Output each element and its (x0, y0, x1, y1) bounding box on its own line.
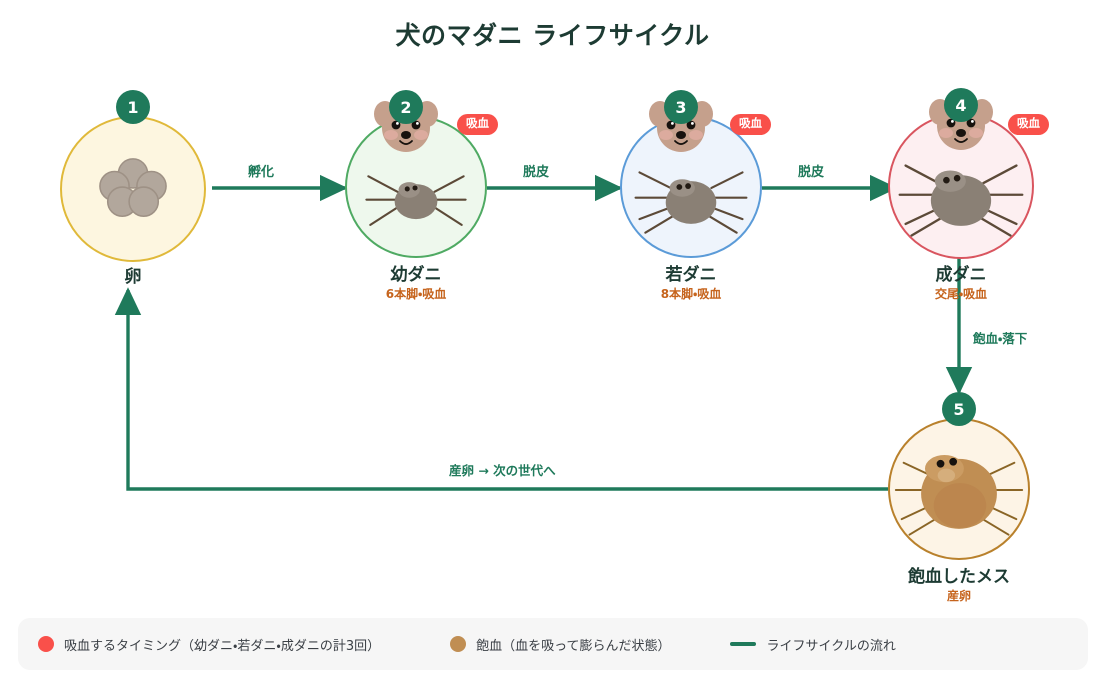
legend-line-green (730, 642, 756, 646)
edge-label-molt-1: 脱皮 (523, 161, 549, 180)
edge-label-hatching: 孵化 (248, 161, 274, 180)
stage-5-name: 飽血したメス (884, 562, 1034, 587)
edge-label-molt-2: 脱皮 (798, 161, 824, 180)
stage-4-sub: 交尾・吸血 (886, 285, 1036, 302)
stage-5-number-badge: 5 (942, 392, 976, 426)
legend-item-flow: ライフサイクルの流れ (730, 635, 895, 654)
egg-cluster-icon (62, 118, 204, 260)
diagram-canvas: 犬のマダニ ライフサイクル (0, 0, 1105, 680)
stage-1-name: 卵 (58, 262, 208, 287)
page-title: 犬のマダニ ライフサイクル (0, 16, 1105, 52)
legend-item-engorged: 飽血（血を吸って膨らんだ状態） (450, 635, 670, 654)
edge-label-oviposition: 産卵 → 次の世代へ (449, 460, 556, 479)
legend-item-feeding: 吸血するタイミング（幼ダニ・若ダニ・成ダニの計3回） (38, 635, 380, 654)
stage-4-number-badge: 4 (944, 88, 978, 122)
stage-2-name: 幼ダニ (341, 260, 491, 285)
stage-1-number-badge: 1 (116, 90, 150, 124)
stage-1-bubble (60, 116, 206, 262)
edge-label-engorge-drop: 飽血・落下 (973, 328, 1027, 347)
stage-4-feeding-badge: 吸血 (1008, 114, 1049, 135)
stage-2-feeding-badge: 吸血 (457, 114, 498, 135)
stage-3-feeding-badge: 吸血 (730, 114, 771, 135)
stage-3-number-badge: 3 (664, 90, 698, 124)
stage-4-name: 成ダニ (886, 260, 1036, 285)
legend-label-engorged: 飽血（血を吸って膨らんだ状態） (476, 635, 670, 654)
engorged-female-icon (890, 420, 1028, 558)
stage-2-number-badge: 2 (389, 90, 423, 124)
stage-5-bubble (888, 418, 1030, 560)
legend-label-flow: ライフサイクルの流れ (766, 635, 895, 654)
legend-panel: 吸血するタイミング（幼ダニ・若ダニ・成ダニの計3回） 飽血（血を吸って膨らんだ状… (18, 618, 1088, 670)
stage-3-sub: 8本脚・吸血 (616, 285, 766, 302)
legend-label-feeding: 吸血するタイミング（幼ダニ・若ダニ・成ダニの計3回） (64, 635, 380, 654)
stage-5-sub: 産卵 (884, 587, 1034, 604)
stage-2-sub: 6本脚・吸血 (341, 285, 491, 302)
stage-3-name: 若ダニ (616, 260, 766, 285)
legend-dot-red (38, 636, 54, 652)
legend-dot-brown (450, 636, 466, 652)
